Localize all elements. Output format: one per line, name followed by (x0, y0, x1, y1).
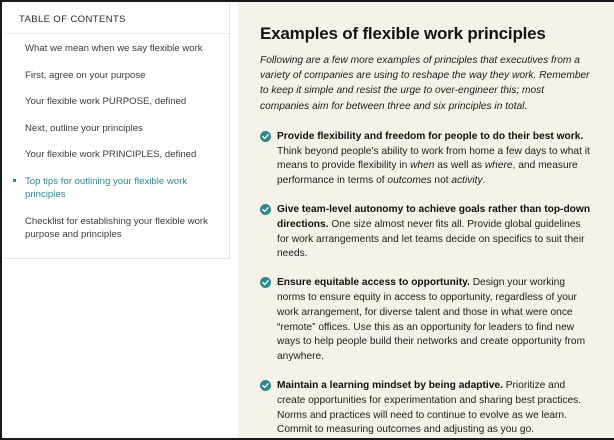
principle-body: Design your working norms to ensure equi… (277, 277, 585, 362)
principles-list: Provide flexibility and freedom for peop… (260, 130, 592, 438)
principle-lead: Maintain a learning mindset by being ada… (277, 380, 503, 391)
toc-header: TABLE OF CONTENTS (5, 4, 229, 34)
emphasized-term: when (410, 160, 434, 171)
principle-item: Ensure equitable access to opportunity. … (260, 276, 592, 365)
toc-item-label: Checklist for establishing your flexible… (25, 216, 208, 241)
principle-lead: Provide flexibility and freedom for peop… (277, 131, 583, 142)
body-text: not (432, 175, 452, 186)
check-circle-icon (260, 131, 271, 142)
principle-item: Give team-level autonomy to achieve goal… (260, 203, 592, 262)
page-title: Examples of flexible work principles (260, 24, 592, 44)
intro-paragraph: Following are a few more examples of pri… (260, 53, 592, 114)
table-of-contents-panel: TABLE OF CONTENTS What we mean when we s… (2, 2, 238, 440)
toc-item[interactable]: Your flexible work PURPOSE, defined (19, 95, 215, 109)
body-text: Design your working norms to ensure equi… (277, 277, 585, 362)
toc-item-label: What we mean when we say flexible work (25, 43, 203, 54)
toc-item[interactable]: Checklist for establishing your flexible… (19, 215, 215, 242)
principle-body: Think beyond people's ability to work fr… (277, 146, 590, 187)
emphasized-term: activity (451, 175, 482, 186)
toc-item-label: First, agree on your purpose (25, 70, 146, 81)
toc-item-label: Top tips for outlining your flexible wor… (25, 176, 187, 201)
emphasized-term: where (485, 160, 513, 171)
principle-lead: Ensure equitable access to opportunity. (277, 277, 470, 288)
principle-item: Maintain a learning mindset by being ada… (260, 379, 592, 438)
toc-item-label: Next, outline your principles (25, 123, 143, 134)
emphasized-term: outcomes (387, 175, 431, 186)
document-page: TABLE OF CONTENTS What we mean when we s… (0, 0, 614, 440)
toc-item-active[interactable]: Top tips for outlining your flexible wor… (19, 175, 215, 202)
toc-item[interactable]: What we mean when we say flexible work (19, 42, 215, 56)
principle-item: Provide flexibility and freedom for peop… (260, 130, 592, 189)
toc-card: TABLE OF CONTENTS What we mean when we s… (5, 4, 230, 259)
toc-item-label: Your flexible work PRINCIPLES, defined (25, 149, 196, 160)
content-panel: Examples of flexible work principles Fol… (238, 2, 614, 438)
check-circle-icon (260, 277, 271, 288)
body-text: as well as (434, 160, 484, 171)
check-circle-icon (260, 204, 271, 215)
toc-item[interactable]: Your flexible work PRINCIPLES, defined (19, 148, 215, 162)
toc-active-marker-icon (13, 179, 16, 182)
toc-item[interactable]: First, agree on your purpose (19, 69, 215, 83)
toc-item-label: Your flexible work PURPOSE, defined (25, 96, 186, 107)
check-circle-icon (260, 380, 271, 391)
body-text: . (483, 175, 486, 186)
toc-item[interactable]: Next, outline your principles (19, 122, 215, 136)
toc-list: What we mean when we say flexible workFi… (5, 34, 229, 242)
